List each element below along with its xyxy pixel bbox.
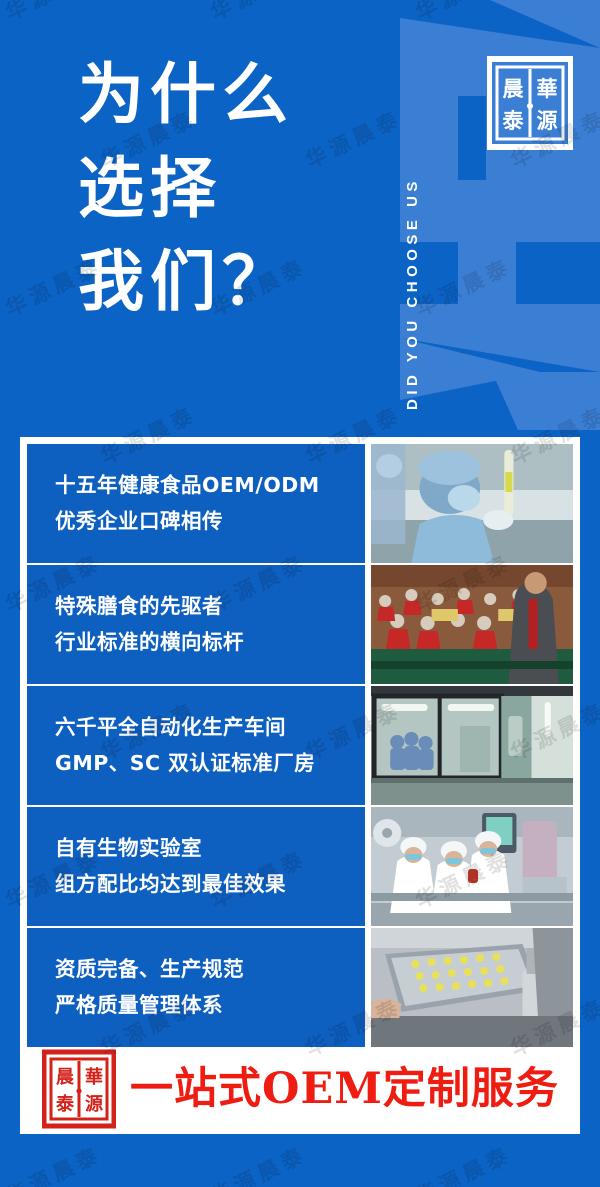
benefit-card-3-line-1: 六千平全自动化生产车间 bbox=[55, 710, 365, 745]
svg-text:源: 源 bbox=[85, 1093, 103, 1115]
watermark-text: 华源晨泰 bbox=[205, 0, 312, 27]
headline-line-2: 选择 bbox=[78, 142, 294, 236]
benefit-card-1[interactable]: 十五年健康食品OEM/ODM 优秀企业口碑相传 bbox=[27, 444, 365, 563]
svg-text:泰: 泰 bbox=[55, 1093, 75, 1115]
watermark-text: 华源晨泰 bbox=[205, 1138, 312, 1187]
benefits-panel: 十五年健康食品OEM/ODM 优秀企业口碑相传 bbox=[20, 437, 580, 1134]
svg-text:泰: 泰 bbox=[502, 109, 525, 133]
footer-slogan-bar: 晨 泰 華 源 一站式OEM定制服务 bbox=[20, 1051, 580, 1127]
watermark-text: 华源晨泰 bbox=[0, 0, 107, 27]
benefit-card-list: 十五年健康食品OEM/ODM 优秀企业口碑相传 bbox=[27, 444, 573, 1047]
page-title: 为什么 选择 我们？ bbox=[78, 48, 294, 329]
watermark-text: 华源晨泰 bbox=[0, 1138, 107, 1187]
benefit-card-4[interactable]: 自有生物实验室 组方配比均达到最佳效果 bbox=[27, 807, 365, 926]
benefit-card-1-line-2: 优秀企业口碑相传 bbox=[55, 504, 365, 539]
benefit-image-1 bbox=[371, 444, 573, 563]
headline-line-3: 我们？ bbox=[78, 235, 294, 329]
watermark-text: 华源晨泰 bbox=[410, 1138, 517, 1187]
svg-text:華: 華 bbox=[85, 1066, 103, 1088]
benefit-image-5 bbox=[371, 928, 573, 1047]
benefit-row: 自有生物实验室 组方配比均达到最佳效果 bbox=[27, 807, 573, 926]
benefit-image-2 bbox=[371, 565, 573, 684]
benefit-row: 十五年健康食品OEM/ODM 优秀企业口碑相传 bbox=[27, 444, 573, 563]
benefit-card-3-line-2: GMP、SC 双认证标准厂房 bbox=[55, 746, 365, 781]
benefit-card-3[interactable]: 六千平全自动化生产车间 GMP、SC 双认证标准厂房 bbox=[27, 686, 365, 805]
benefit-card-2[interactable]: 特殊膳食的先驱者 行业标准的横向标杆 bbox=[27, 565, 365, 684]
svg-text:晨: 晨 bbox=[56, 1067, 75, 1088]
benefit-card-5-line-2: 严格质量管理体系 bbox=[55, 988, 365, 1023]
benefit-card-2-line-2: 行业标准的横向标杆 bbox=[55, 625, 365, 660]
svg-text:晨: 晨 bbox=[503, 77, 525, 101]
svg-text:源: 源 bbox=[537, 109, 558, 133]
svg-text:華: 華 bbox=[537, 77, 558, 101]
benefit-card-2-line-1: 特殊膳食的先驱者 bbox=[55, 589, 365, 624]
benefit-card-4-line-1: 自有生物实验室 bbox=[55, 831, 365, 866]
benefit-row: 资质完备、生产规范 严格质量管理体系 bbox=[27, 928, 573, 1047]
benefit-row: 六千平全自动化生产车间 GMP、SC 双认证标准厂房 bbox=[27, 686, 573, 805]
poster-root: 为什么 选择 我们？ DID YOU CHOOSE US 晨 泰 華 源 十五年… bbox=[0, 0, 600, 1187]
benefit-image-3 bbox=[371, 686, 573, 805]
headline-line-1: 为什么 bbox=[78, 48, 294, 142]
benefit-card-4-line-2: 组方配比均达到最佳效果 bbox=[55, 867, 365, 902]
company-seal-icon-footer: 晨 泰 華 源 bbox=[42, 1049, 116, 1129]
company-seal-icon: 晨 泰 華 源 bbox=[487, 56, 573, 150]
benefit-card-5[interactable]: 资质完备、生产规范 严格质量管理体系 bbox=[27, 928, 365, 1047]
benefit-image-4 bbox=[371, 807, 573, 926]
benefit-row: 特殊膳食的先驱者 行业标准的横向标杆 bbox=[27, 565, 573, 684]
benefit-card-5-line-1: 资质完备、生产规范 bbox=[55, 952, 365, 987]
footer-slogan: 一站式OEM定制服务 bbox=[130, 1068, 559, 1111]
vertical-english-caption: DID YOU CHOOSE US bbox=[404, 18, 430, 410]
benefit-card-1-line-1: 十五年健康食品OEM/ODM bbox=[55, 468, 365, 503]
watermark-text: 华源晨泰 bbox=[300, 102, 407, 175]
